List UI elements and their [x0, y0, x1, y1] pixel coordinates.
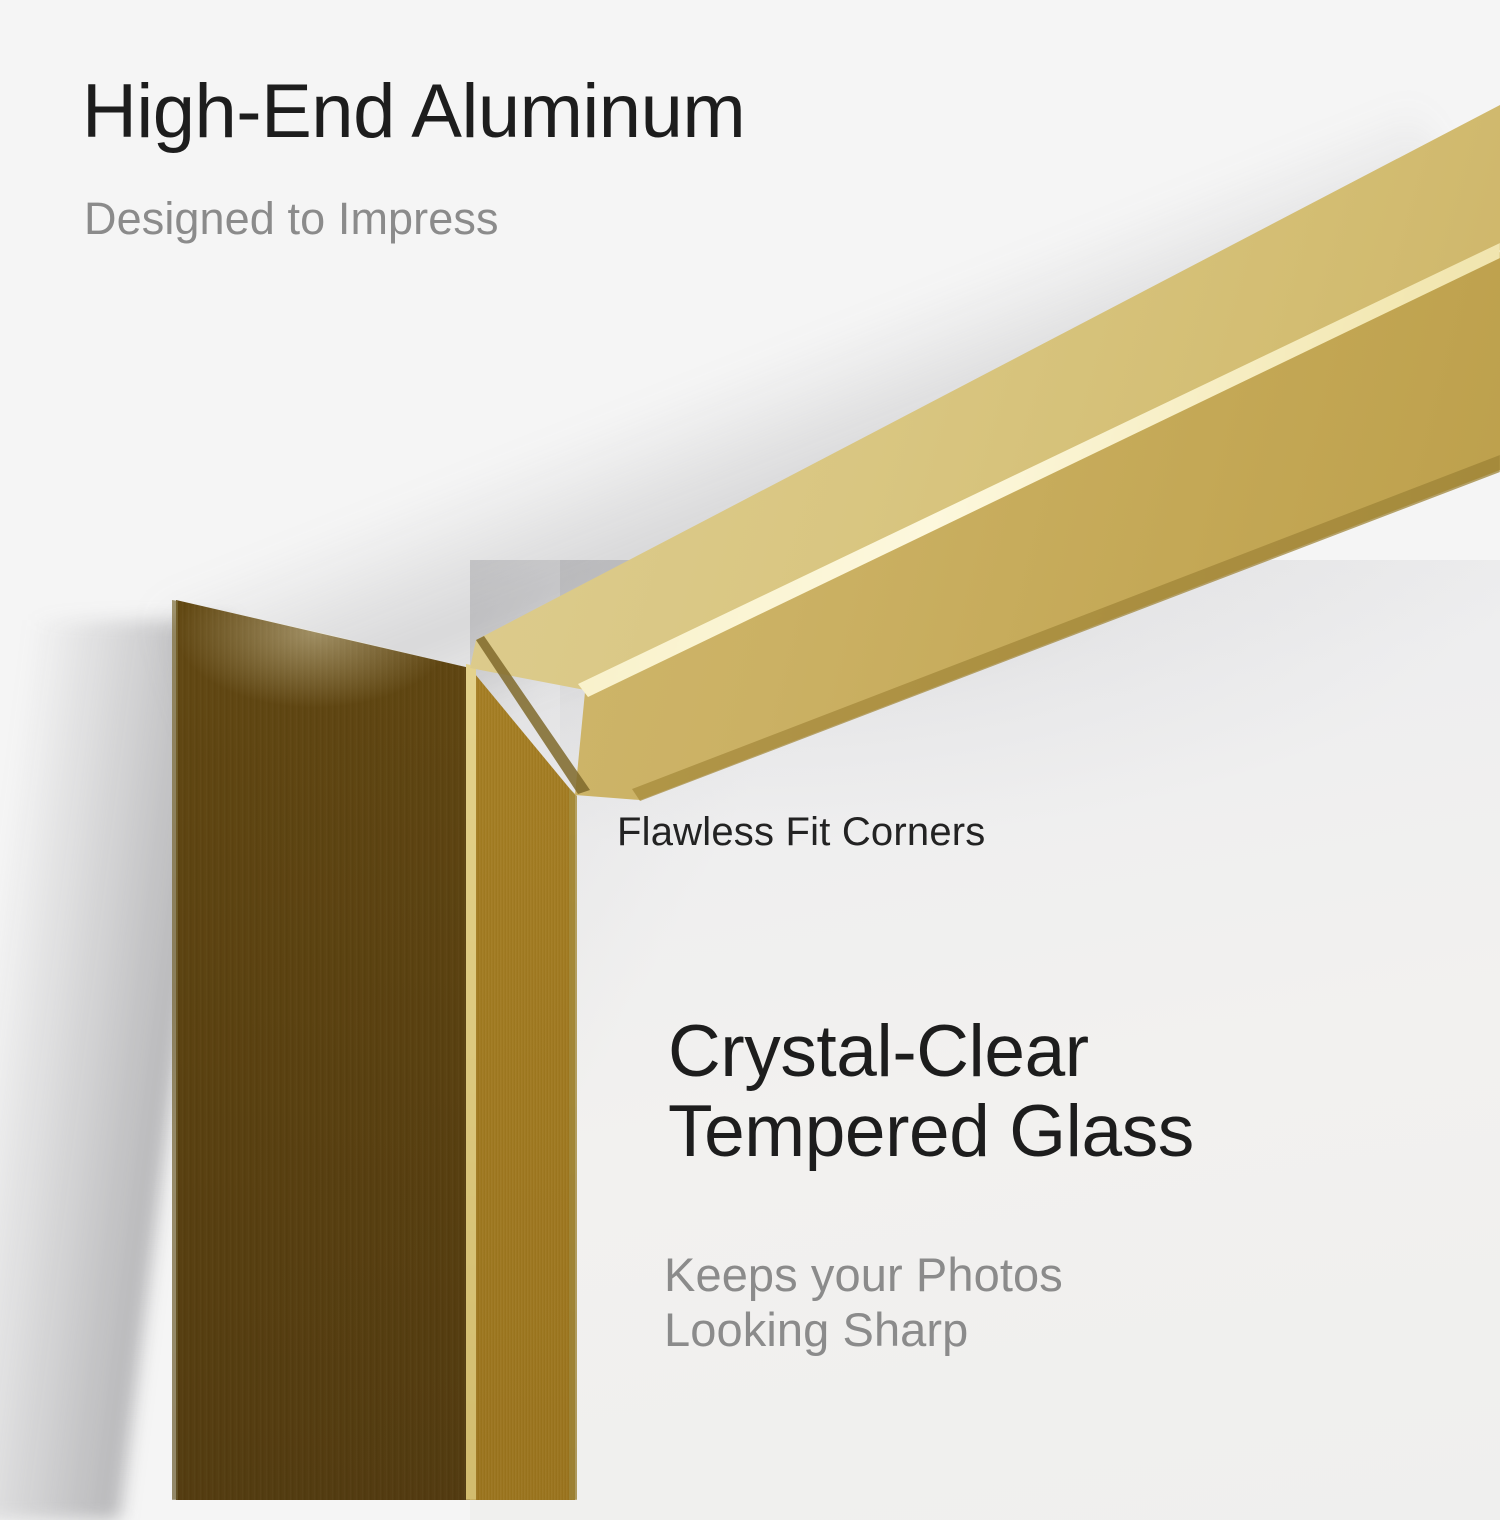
callout-glass-title-line1: Crystal-Clear — [668, 1011, 1089, 1092]
product-image-canvas: High-End Aluminum Designed to Impress Fl… — [0, 0, 1500, 1500]
callout-glass-subtitle: Keeps your PhotosLooking Sharp — [664, 1248, 1063, 1357]
brushed-texture-outer — [176, 600, 470, 1500]
callout-glass-title-line2: Tempered Glass — [668, 1091, 1194, 1172]
brushed-texture-inner — [470, 668, 575, 1500]
callout-glass-subtitle-line1: Keeps your Photos — [664, 1248, 1063, 1301]
callout-glass-title: Crystal-ClearTempered Glass — [668, 1012, 1194, 1171]
page-title: High-End Aluminum — [82, 74, 745, 150]
page-subtitle: Designed to Impress — [84, 196, 499, 241]
callout-flawless-fit-corners: Flawless Fit Corners — [617, 812, 986, 852]
callout-glass-subtitle-line2: Looking Sharp — [664, 1303, 968, 1356]
